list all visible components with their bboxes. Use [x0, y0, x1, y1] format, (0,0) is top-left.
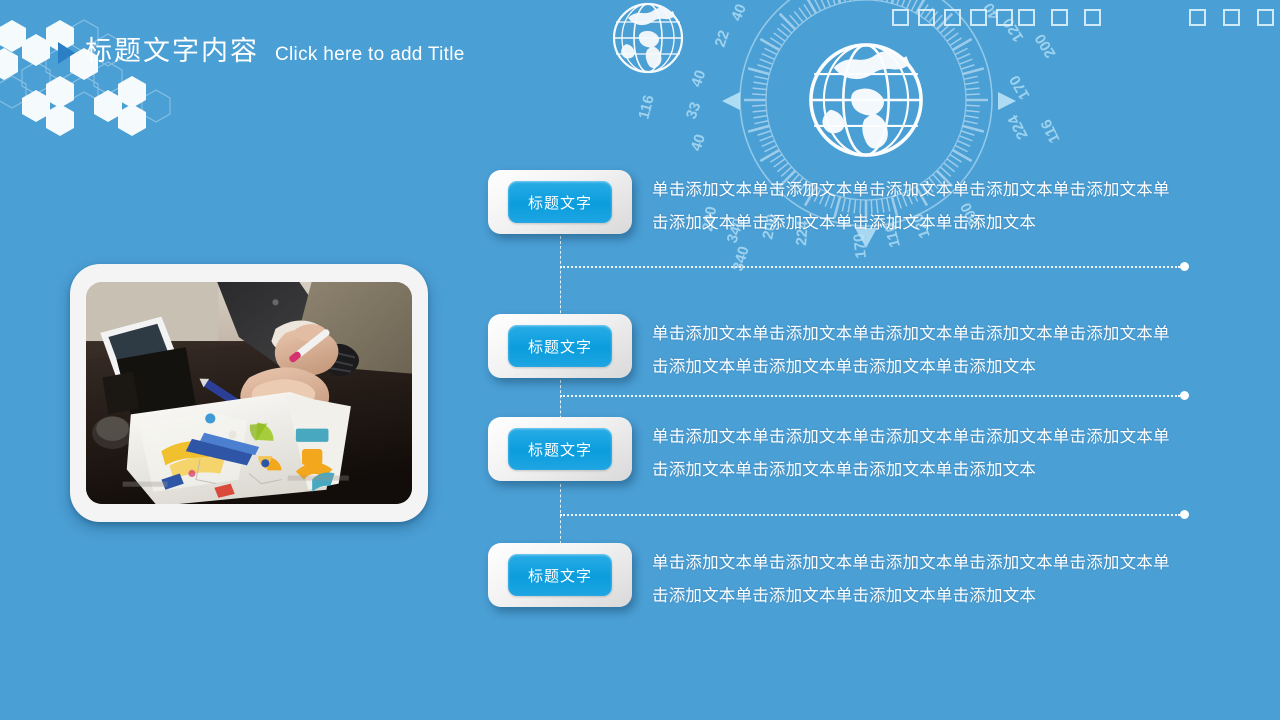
chip-inner: 标题文字: [508, 325, 612, 367]
connector-horizontal-1: [560, 266, 1180, 268]
connector-horizontal-3: [560, 514, 1180, 516]
row-chip-button[interactable]: 标题文字: [488, 170, 632, 234]
connector-end-dot-2: [1180, 391, 1189, 400]
row-body-text: 单击添加文本单击添加文本单击添加文本单击添加文本单击添加文本单击添加文本单击添加…: [652, 547, 1184, 613]
chip-label: 标题文字: [528, 439, 592, 460]
chip-label: 标题文字: [528, 192, 592, 213]
row-chip-button[interactable]: 标题文字: [488, 543, 632, 607]
chip-label: 标题文字: [528, 565, 592, 586]
chip-inner: 标题文字: [508, 428, 612, 470]
connector-end-dot-3: [1180, 510, 1189, 519]
row-body-text: 单击添加文本单击添加文本单击添加文本单击添加文本单击添加文本单击添加文本单击添加…: [652, 421, 1184, 487]
chip-inner: 标题文字: [508, 554, 612, 596]
connector-horizontal-2: [560, 395, 1180, 397]
row-body-text: 单击添加文本单击添加文本单击添加文本单击添加文本单击添加文本单击添加文本单击添加…: [652, 318, 1184, 384]
row-body-text: 单击添加文本单击添加文本单击添加文本单击添加文本单击添加文本单击添加文本单击添加…: [652, 174, 1184, 240]
chip-label: 标题文字: [528, 336, 592, 357]
chip-inner: 标题文字: [508, 181, 612, 223]
row-chip-button[interactable]: 标题文字: [488, 314, 632, 378]
connector-end-dot-1: [1180, 262, 1189, 271]
content-rows: 标题文字 单击添加文本单击添加文本单击添加文本单击添加文本单击添加文本单击添加文…: [0, 0, 1280, 720]
row-chip-button[interactable]: 标题文字: [488, 417, 632, 481]
